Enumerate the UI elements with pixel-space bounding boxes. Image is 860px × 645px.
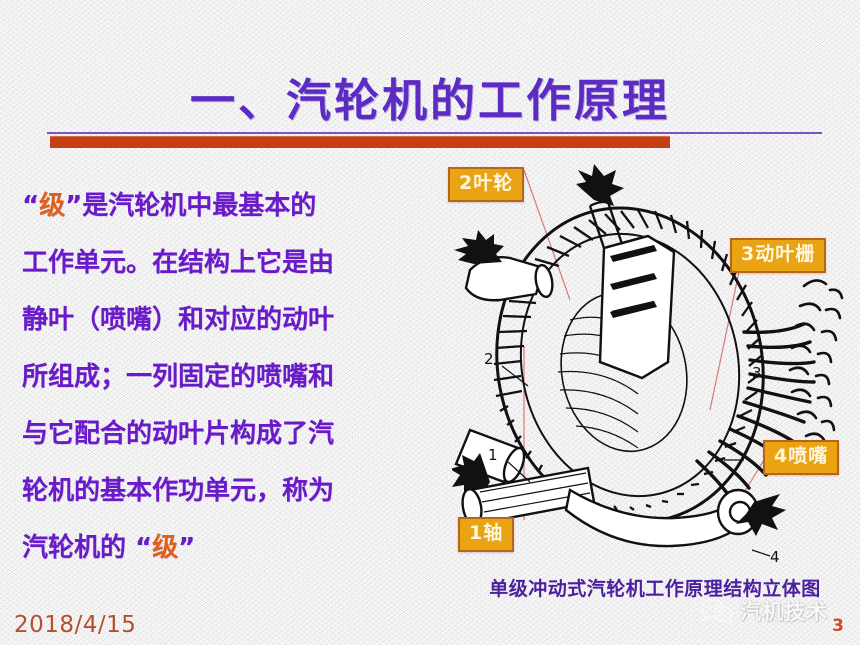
body-line-4-post: 所组成；一列固定的喷嘴和 (22, 362, 334, 392)
slide-canvas: 一、汽轮机的工作原理 “级”是汽轮机中最基本的 工作单元。在结构上它是由 静叶（… (0, 0, 860, 645)
body-line-1: “级”是汽轮机中最基本的 (22, 178, 442, 235)
left-nozzle-body (466, 257, 555, 300)
body-line-1-pre: “ (22, 191, 39, 221)
inline-number-2: 2 (484, 350, 494, 368)
body-line-6: 轮机的基本作功单元，称为 (22, 463, 442, 520)
body-line-5-post: 与它配合的动叶片构成了汽 (22, 419, 334, 449)
inline-number-4: 4 (770, 548, 780, 566)
steam-inlet-arrow (576, 164, 624, 206)
body-text-block: “级”是汽轮机中最基本的 工作单元。在结构上它是由 静叶（喷嘴）和对应的动叶 所… (22, 178, 442, 577)
lower-nozzle-body (566, 490, 758, 546)
callout-label-nozzle[interactable]: 4喷嘴 (763, 440, 839, 475)
body-line-4: 所组成；一列固定的喷嘴和 (22, 349, 442, 406)
body-line-1-highlight: 级 (39, 191, 65, 221)
body-line-2-post: 工作单元。在结构上它是由 (22, 248, 334, 278)
slide-page-number: 3 (832, 616, 844, 636)
diagram-caption: 单级冲动式汽轮机工作原理结构立体图 (450, 574, 860, 601)
page-title: 一、汽轮机的工作原理 (0, 78, 860, 123)
body-line-7-pre: 汽轮机的 “ (22, 533, 152, 563)
title-underline-rule (47, 132, 822, 134)
callout-label-impeller[interactable]: 2叶轮 (448, 167, 524, 202)
body-line-1-post: ”是汽轮机中最基本的 (65, 191, 316, 221)
body-line-3-post: 静叶（喷嘴）和对应的动叶 (22, 305, 334, 335)
inline-number-1: 1 (488, 446, 498, 464)
body-line-6-post: 轮机的基本作功单元，称为 (22, 476, 334, 506)
callout-label-moving-blade-row[interactable]: 3动叶栅 (730, 238, 826, 273)
slide-date: 2018/4/15 (14, 612, 136, 638)
body-line-7-post: ” (178, 533, 195, 563)
inline-number-3: 3 (752, 364, 762, 382)
steam-cloud (790, 280, 842, 440)
wechat-icon (700, 598, 734, 624)
body-line-2: 工作单元。在结构上它是由 (22, 235, 442, 292)
body-line-7-highlight: 级 (152, 533, 178, 563)
body-line-7: 汽轮机的 “级” (22, 520, 442, 577)
body-line-5: 与它配合的动叶片构成了汽 (22, 406, 442, 463)
left-nozzle-arrow (454, 230, 504, 264)
body-line-3: 静叶（喷嘴）和对应的动叶 (22, 292, 442, 349)
title-accent-bar (50, 136, 670, 148)
callout-label-shaft[interactable]: 1轴 (458, 517, 514, 552)
